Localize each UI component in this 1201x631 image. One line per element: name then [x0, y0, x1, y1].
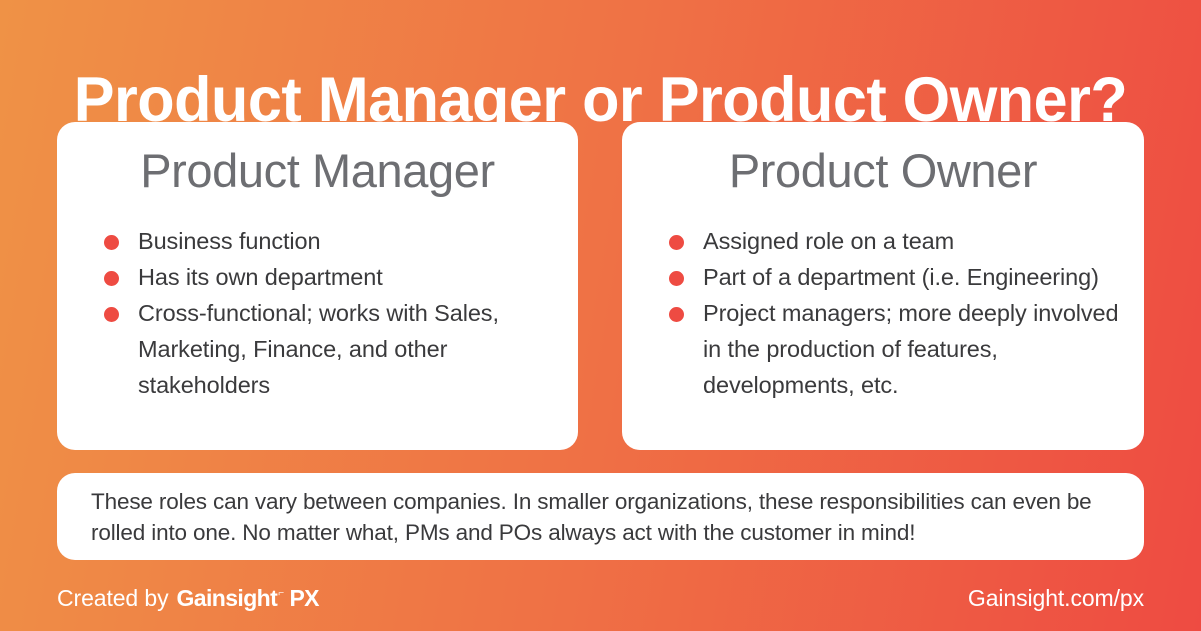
- bullet-dot-icon: [104, 307, 119, 322]
- list-item-text: Has its own department: [138, 264, 383, 290]
- bullet-dot-icon: [104, 235, 119, 250]
- card-product-manager: Product Manager Business function Has it…: [57, 122, 578, 450]
- card-heading-product-owner: Product Owner: [622, 147, 1144, 194]
- note-text: These roles can vary between companies. …: [91, 486, 1110, 548]
- infographic-canvas: Product Manager or Product Owner? Produc…: [0, 0, 1201, 631]
- card-product-owner: Product Owner Assigned role on a team Pa…: [622, 122, 1144, 450]
- bullet-dot-icon: [669, 271, 684, 286]
- list-item-text: Project managers; more deeply involved i…: [703, 300, 1119, 398]
- trademark-icon: ⌐: [278, 589, 283, 599]
- list-item: Project managers; more deeply involved i…: [669, 295, 1124, 403]
- list-item: Part of a department (i.e. Engineering): [669, 259, 1124, 295]
- bullet-dot-icon: [104, 271, 119, 286]
- footer: Created by Gainsight ⌐ PX Gainsight.com/…: [57, 581, 1144, 615]
- card-note: These roles can vary between companies. …: [57, 473, 1144, 560]
- gainsight-px-label: PX: [289, 585, 318, 612]
- list-item-text: Cross-functional; works with Sales, Mark…: [138, 300, 499, 398]
- gainsight-logo: Gainsight ⌐ PX: [177, 585, 319, 612]
- footer-attribution: Created by Gainsight ⌐ PX: [57, 585, 319, 612]
- list-item-text: Business function: [138, 228, 321, 254]
- bullet-list-product-manager: Business function Has its own department…: [57, 223, 578, 403]
- bullet-list-product-owner: Assigned role on a team Part of a depart…: [622, 223, 1144, 403]
- list-item: Cross-functional; works with Sales, Mark…: [104, 295, 558, 403]
- list-item-text: Part of a department (i.e. Engineering): [703, 264, 1099, 290]
- list-item: Assigned role on a team: [669, 223, 1124, 259]
- bullet-dot-icon: [669, 307, 684, 322]
- list-item: Business function: [104, 223, 558, 259]
- list-item: Has its own department: [104, 259, 558, 295]
- gainsight-wordmark: Gainsight: [177, 585, 278, 612]
- footer-website: Gainsight.com/px: [968, 585, 1144, 612]
- created-by-label: Created by: [57, 585, 169, 612]
- card-heading-product-manager: Product Manager: [57, 147, 578, 194]
- bullet-dot-icon: [669, 235, 684, 250]
- list-item-text: Assigned role on a team: [703, 228, 954, 254]
